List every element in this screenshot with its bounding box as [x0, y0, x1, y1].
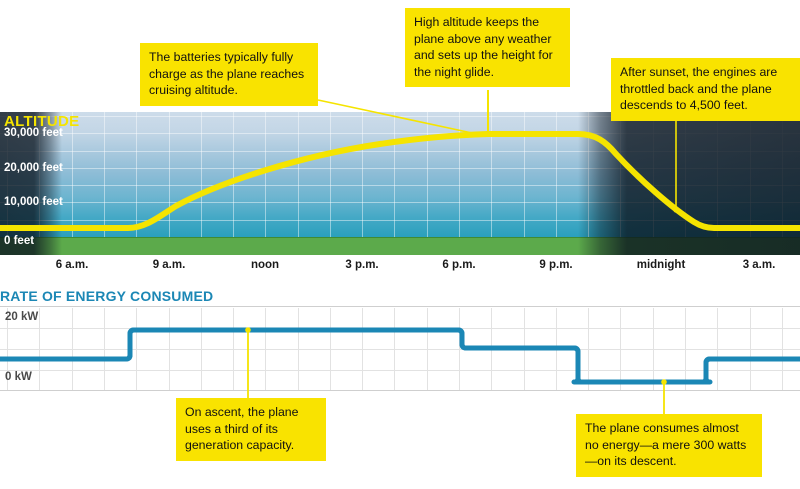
infographic-root: ALTITUDE 30,000 feet 20,000 feet 10,000 …: [0, 0, 800, 489]
leader-dot-on-ascent: [245, 327, 251, 333]
callout-on-ascent: On ascent, the plane uses a third of its…: [176, 398, 326, 461]
callout-no-energy-descent: The plane consumes almost no energy—a me…: [576, 414, 762, 477]
leader-dot-descent-energy: [661, 379, 667, 385]
callout-after-sunset: After sunset, the engines are throttled …: [611, 58, 800, 121]
leader-line-batteries: [318, 100, 486, 136]
callout-batteries-charge: The batteries typically fully charge as …: [140, 43, 318, 106]
leader-dot-after-sunset: [673, 207, 678, 212]
callout-high-altitude: High altitude keeps the plane above any …: [405, 8, 570, 87]
